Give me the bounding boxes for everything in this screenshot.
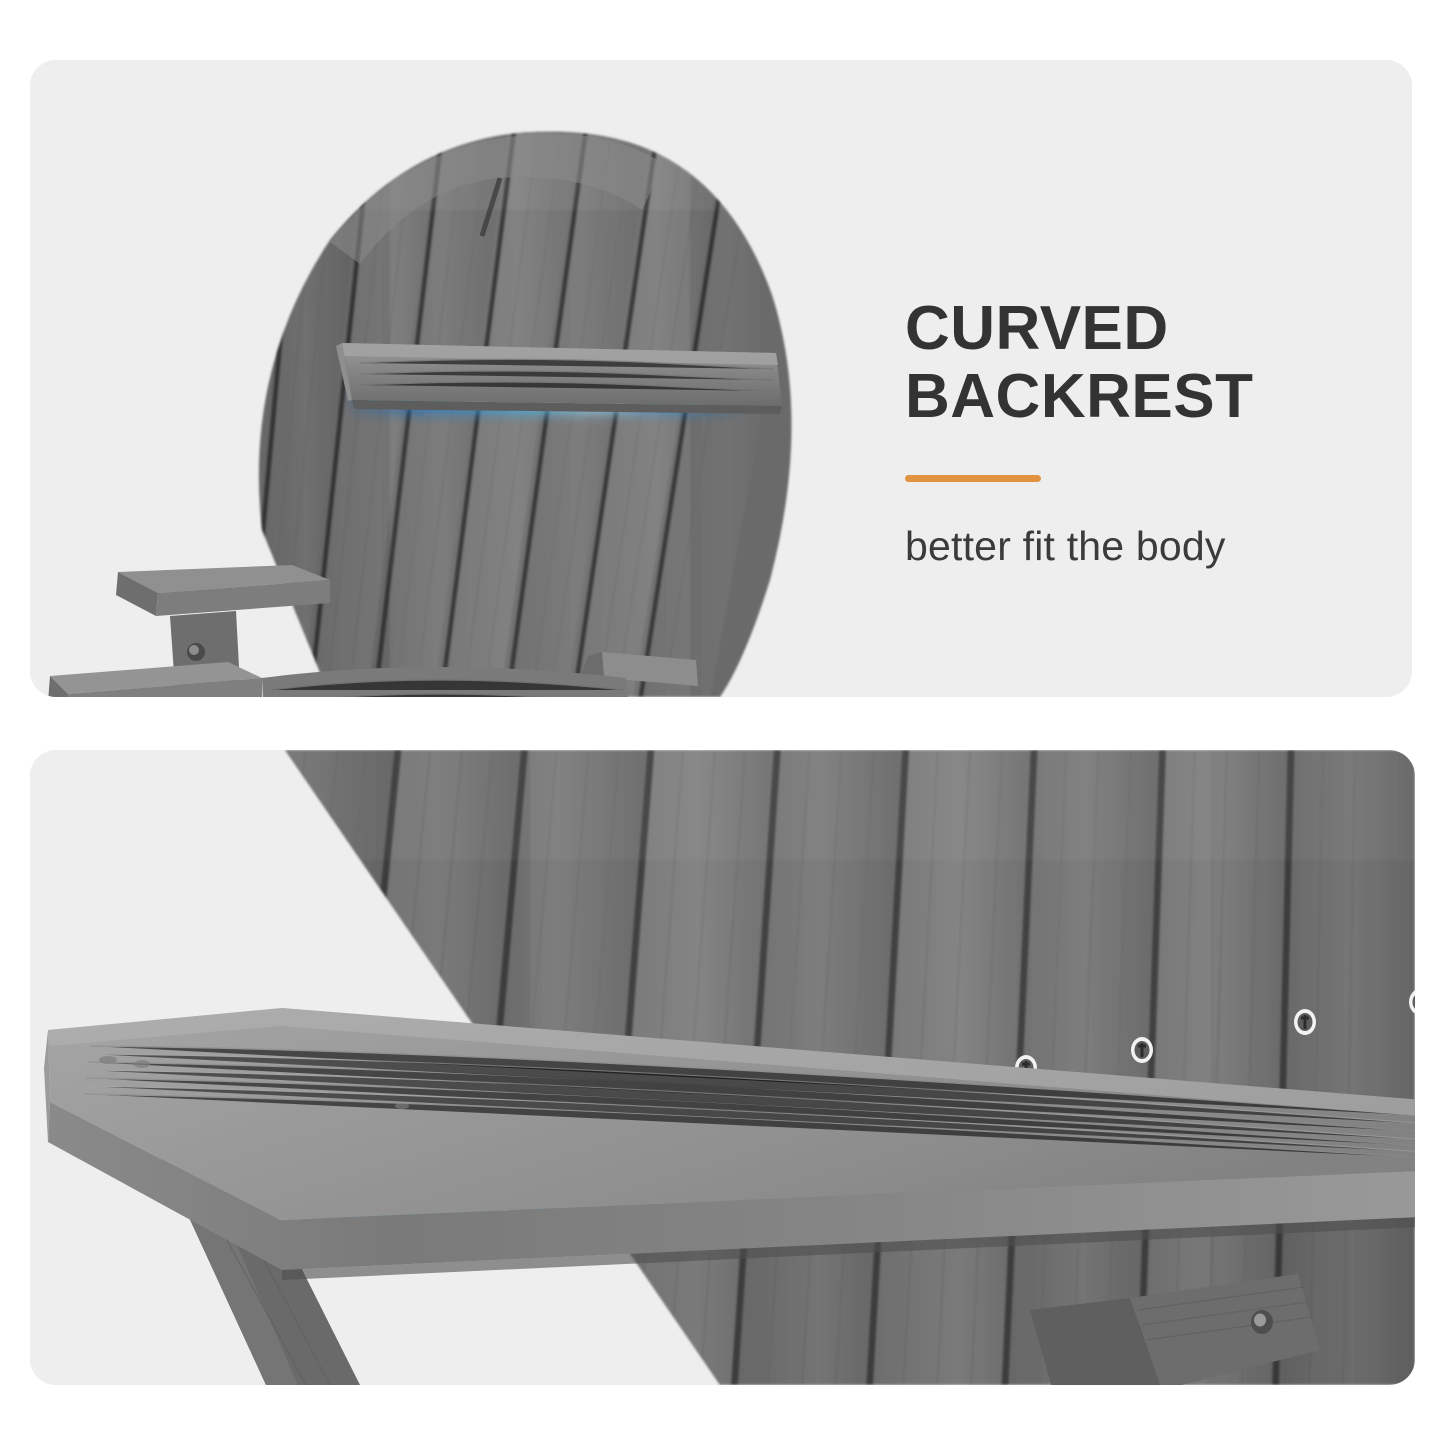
feature-panel-curved-backrest: CURVED BACKREST better fit the body [30, 60, 1412, 697]
feature-headline: CURVED BACKREST [905, 295, 1385, 431]
chair-armrest-illustration [30, 750, 1415, 1385]
feature-subline: better fit the body [905, 522, 1385, 571]
accent-rule [905, 475, 1041, 482]
feature-text-curved-backrest: CURVED BACKREST better fit the body [905, 295, 1385, 572]
feature-panel-wide-armrests: WIDE ARMRESTS for better arm relaxation [30, 750, 1415, 1385]
feature-collage: CURVED BACKREST better fit the body [0, 0, 1445, 1445]
